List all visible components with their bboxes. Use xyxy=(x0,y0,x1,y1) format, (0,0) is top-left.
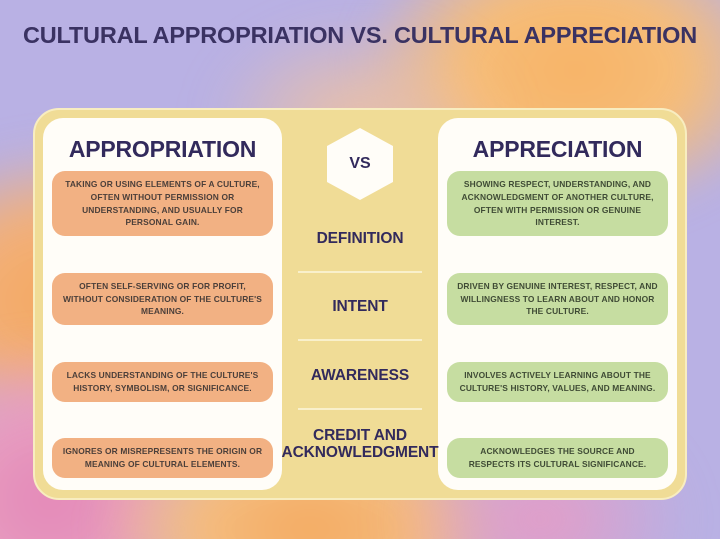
list-item: OFTEN SELF-SERVING OR FOR PROFIT, WITHOU… xyxy=(52,273,273,325)
appreciation-column: APPRECIATION SHOWING RESPECT, UNDERSTAND… xyxy=(438,118,677,490)
list-item: DRIVEN BY GENUINE INTEREST, RESPECT, AND… xyxy=(447,273,668,325)
appreciation-heading: APPRECIATION xyxy=(473,136,643,163)
criteria-label: CREDIT AND ACKNOWLEDGMENT xyxy=(281,427,438,461)
appropriation-heading: APPROPRIATION xyxy=(69,136,256,163)
list-item: ACKNOWLEDGES THE SOURCE AND RESPECTS ITS… xyxy=(447,438,668,478)
list-item: SHOWING RESPECT, UNDERSTANDING, AND ACKN… xyxy=(447,171,668,236)
criteria-row: INTENT xyxy=(286,273,434,342)
list-item: IGNORES OR MISREPRESENTS THE ORIGIN OR M… xyxy=(52,438,273,478)
criteria-label: INTENT xyxy=(332,298,387,315)
center-criteria-column: VS DEFINITION INTENT AWARENESS CREDIT AN… xyxy=(282,118,438,490)
page-title: CULTURAL APPROPRIATION VS. CULTURAL APPR… xyxy=(0,22,720,49)
list-item: TAKING OR USING ELEMENTS OF A CULTURE, O… xyxy=(52,171,273,236)
infographic-canvas: CULTURAL APPROPRIATION VS. CULTURAL APPR… xyxy=(0,0,720,539)
criteria-label: DEFINITION xyxy=(317,230,404,247)
criteria-label: AWARENESS xyxy=(311,367,409,384)
vs-badge: VS xyxy=(327,128,393,200)
appropriation-column: APPROPRIATION TAKING OR USING ELEMENTS O… xyxy=(43,118,282,490)
comparison-panel: APPROPRIATION TAKING OR USING ELEMENTS O… xyxy=(33,108,687,500)
list-item: INVOLVES ACTIVELY LEARNING ABOUT THE CUL… xyxy=(447,362,668,402)
appreciation-item-list: SHOWING RESPECT, UNDERSTANDING, AND ACKN… xyxy=(447,171,668,480)
criteria-row: CREDIT AND ACKNOWLEDGMENT xyxy=(286,410,434,479)
criteria-row: AWARENESS xyxy=(286,341,434,410)
list-item: LACKS UNDERSTANDING OF THE CULTURE'S HIS… xyxy=(52,362,273,402)
criteria-label-list: DEFINITION INTENT AWARENESS CREDIT AND A… xyxy=(282,200,438,490)
criteria-row: DEFINITION xyxy=(286,204,434,273)
appropriation-item-list: TAKING OR USING ELEMENTS OF A CULTURE, O… xyxy=(52,171,273,480)
